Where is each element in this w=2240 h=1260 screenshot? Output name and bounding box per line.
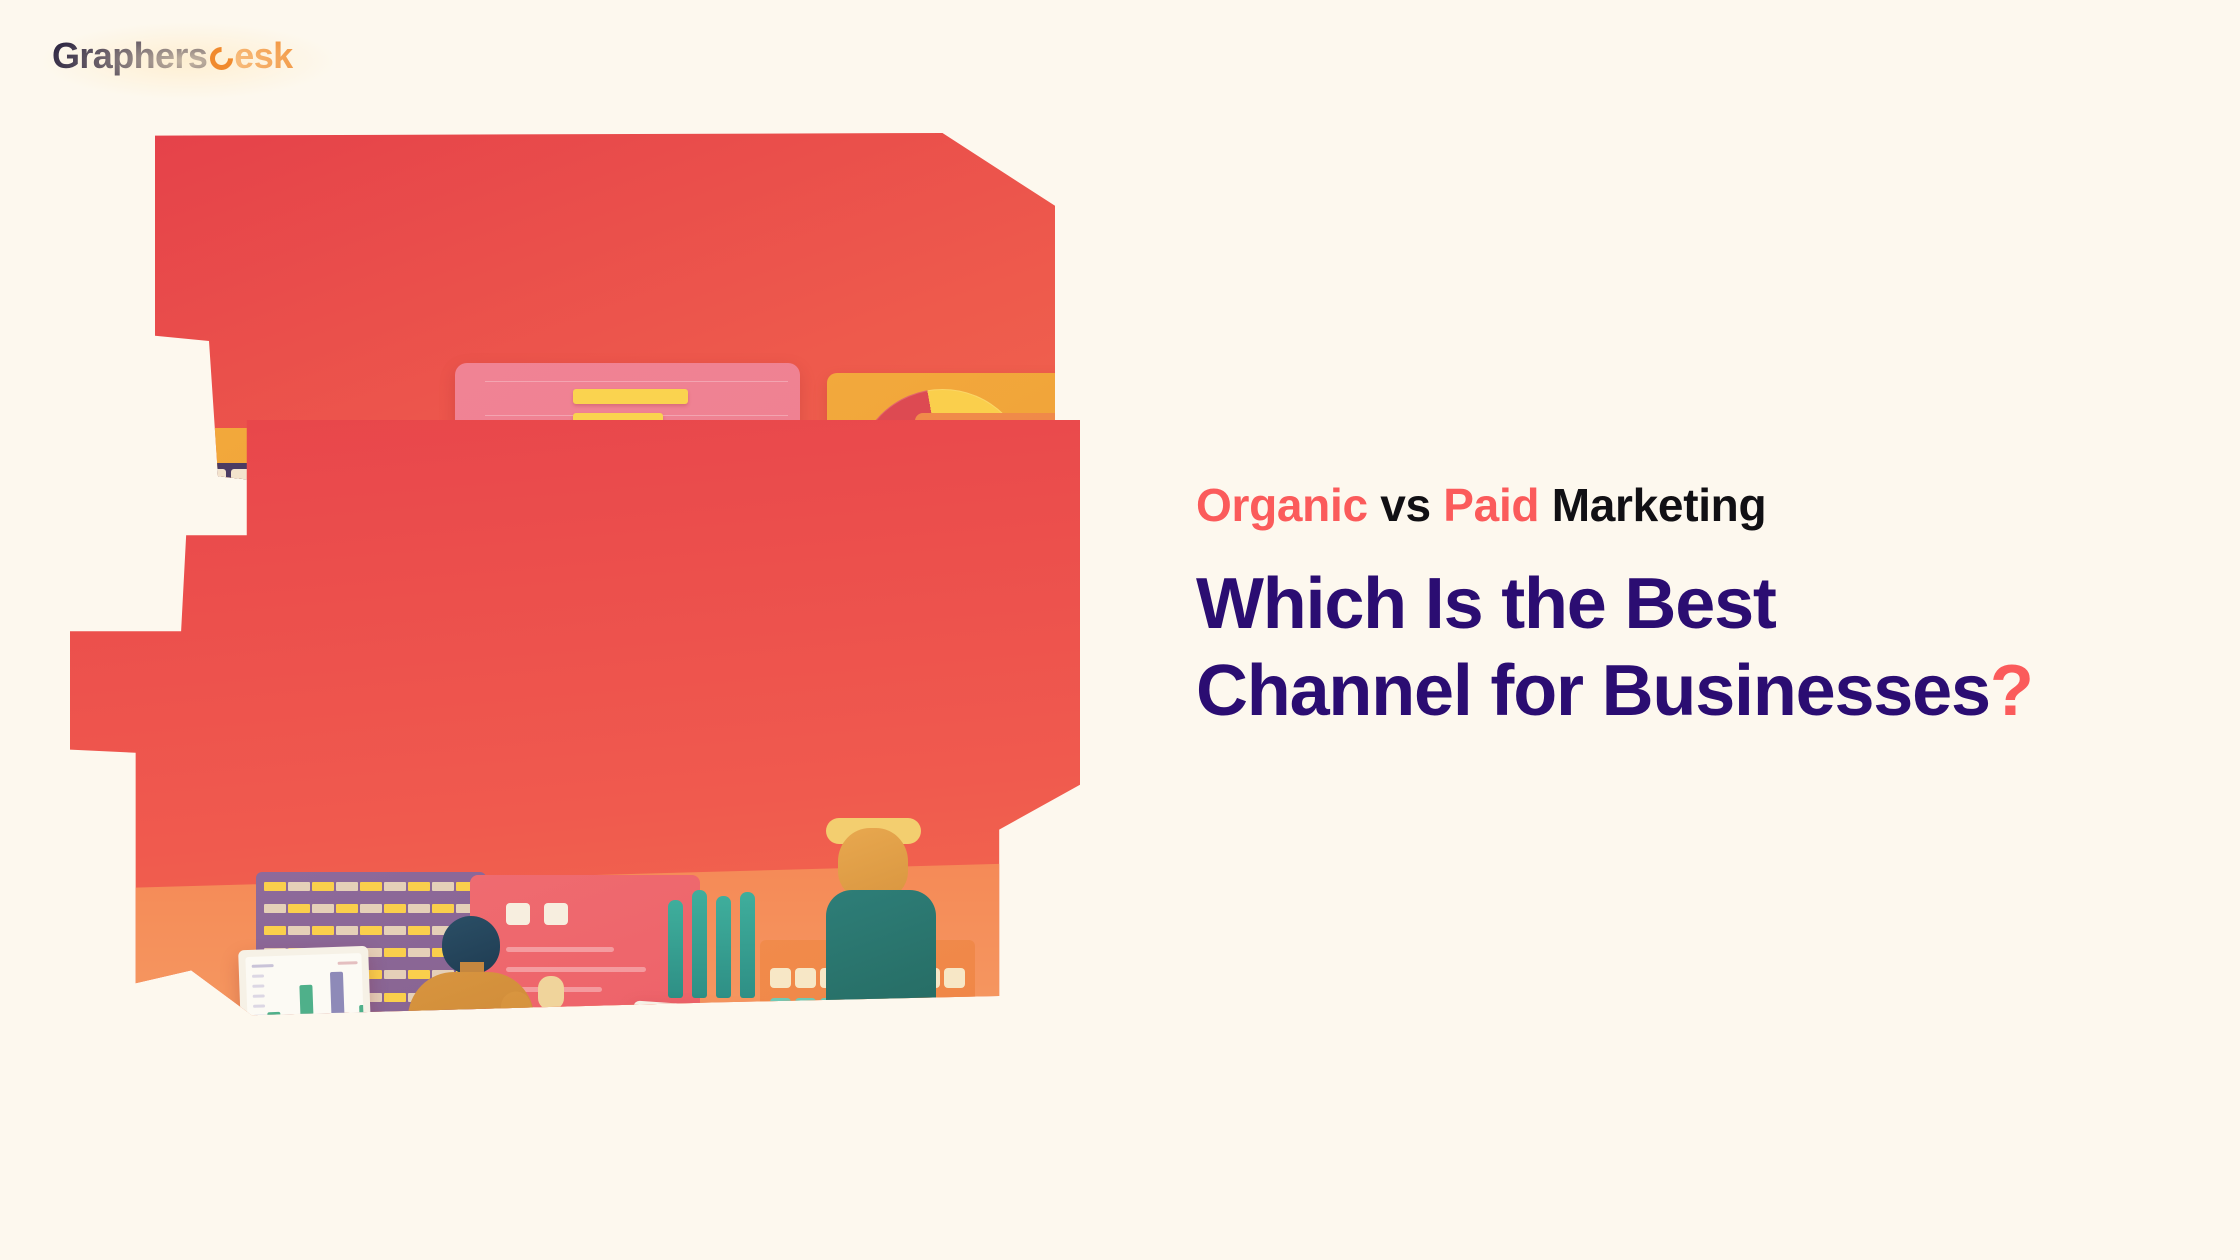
monitor-left-stand	[291, 1058, 319, 1060]
circle-mark-icon	[206, 42, 239, 75]
page-title-line-2: Channel for Businesses?	[1196, 648, 2196, 736]
brand-logo[interactable]: Graphers esk	[52, 38, 293, 74]
brand-name-secondary: esk	[234, 38, 292, 74]
kicker-word-marketing: Marketing	[1552, 479, 1767, 531]
kicker-word-vs: vs	[1380, 479, 1431, 531]
page-title: Which Is the Best Channel for Businesses…	[1196, 561, 2196, 737]
monitor-report	[626, 1000, 768, 1060]
monitor-report-screen	[634, 1008, 762, 1060]
office-analytics-illustration	[100, 120, 1100, 1140]
kicker-word-paid: Paid	[1443, 479, 1539, 531]
headline-kicker: Organic vs Paid Marketing	[1196, 480, 2196, 531]
basket	[660, 1015, 780, 1060]
brand-logo-text: Graphers esk	[52, 38, 293, 74]
person-center-hand	[538, 976, 564, 1010]
person-left-arm	[194, 1007, 313, 1059]
person-left-body	[132, 1005, 252, 1060]
page-title-line-2-text: Channel for Businesses	[1196, 651, 1990, 731]
person-center-body	[408, 972, 534, 1060]
person-right-body	[826, 890, 936, 1050]
question-mark: ?	[1990, 651, 2033, 731]
illustration-shard-mid	[70, 420, 1080, 1060]
person-left-head	[166, 976, 212, 1022]
headline-block: Organic vs Paid Marketing Which Is the B…	[1196, 480, 2196, 736]
marker-pens	[668, 890, 778, 1010]
monitor-bar-chart	[238, 946, 372, 1060]
page-title-line-1: Which Is the Best	[1196, 561, 2196, 649]
brand-name-primary: Graphers	[52, 38, 207, 74]
person-left-hand	[298, 1028, 332, 1055]
form-panel	[470, 875, 700, 1060]
kicker-word-organic: Organic	[1196, 479, 1368, 531]
monitor-bar-chart-screen	[245, 953, 364, 1053]
banner-page: Graphers esk	[0, 0, 2240, 1260]
